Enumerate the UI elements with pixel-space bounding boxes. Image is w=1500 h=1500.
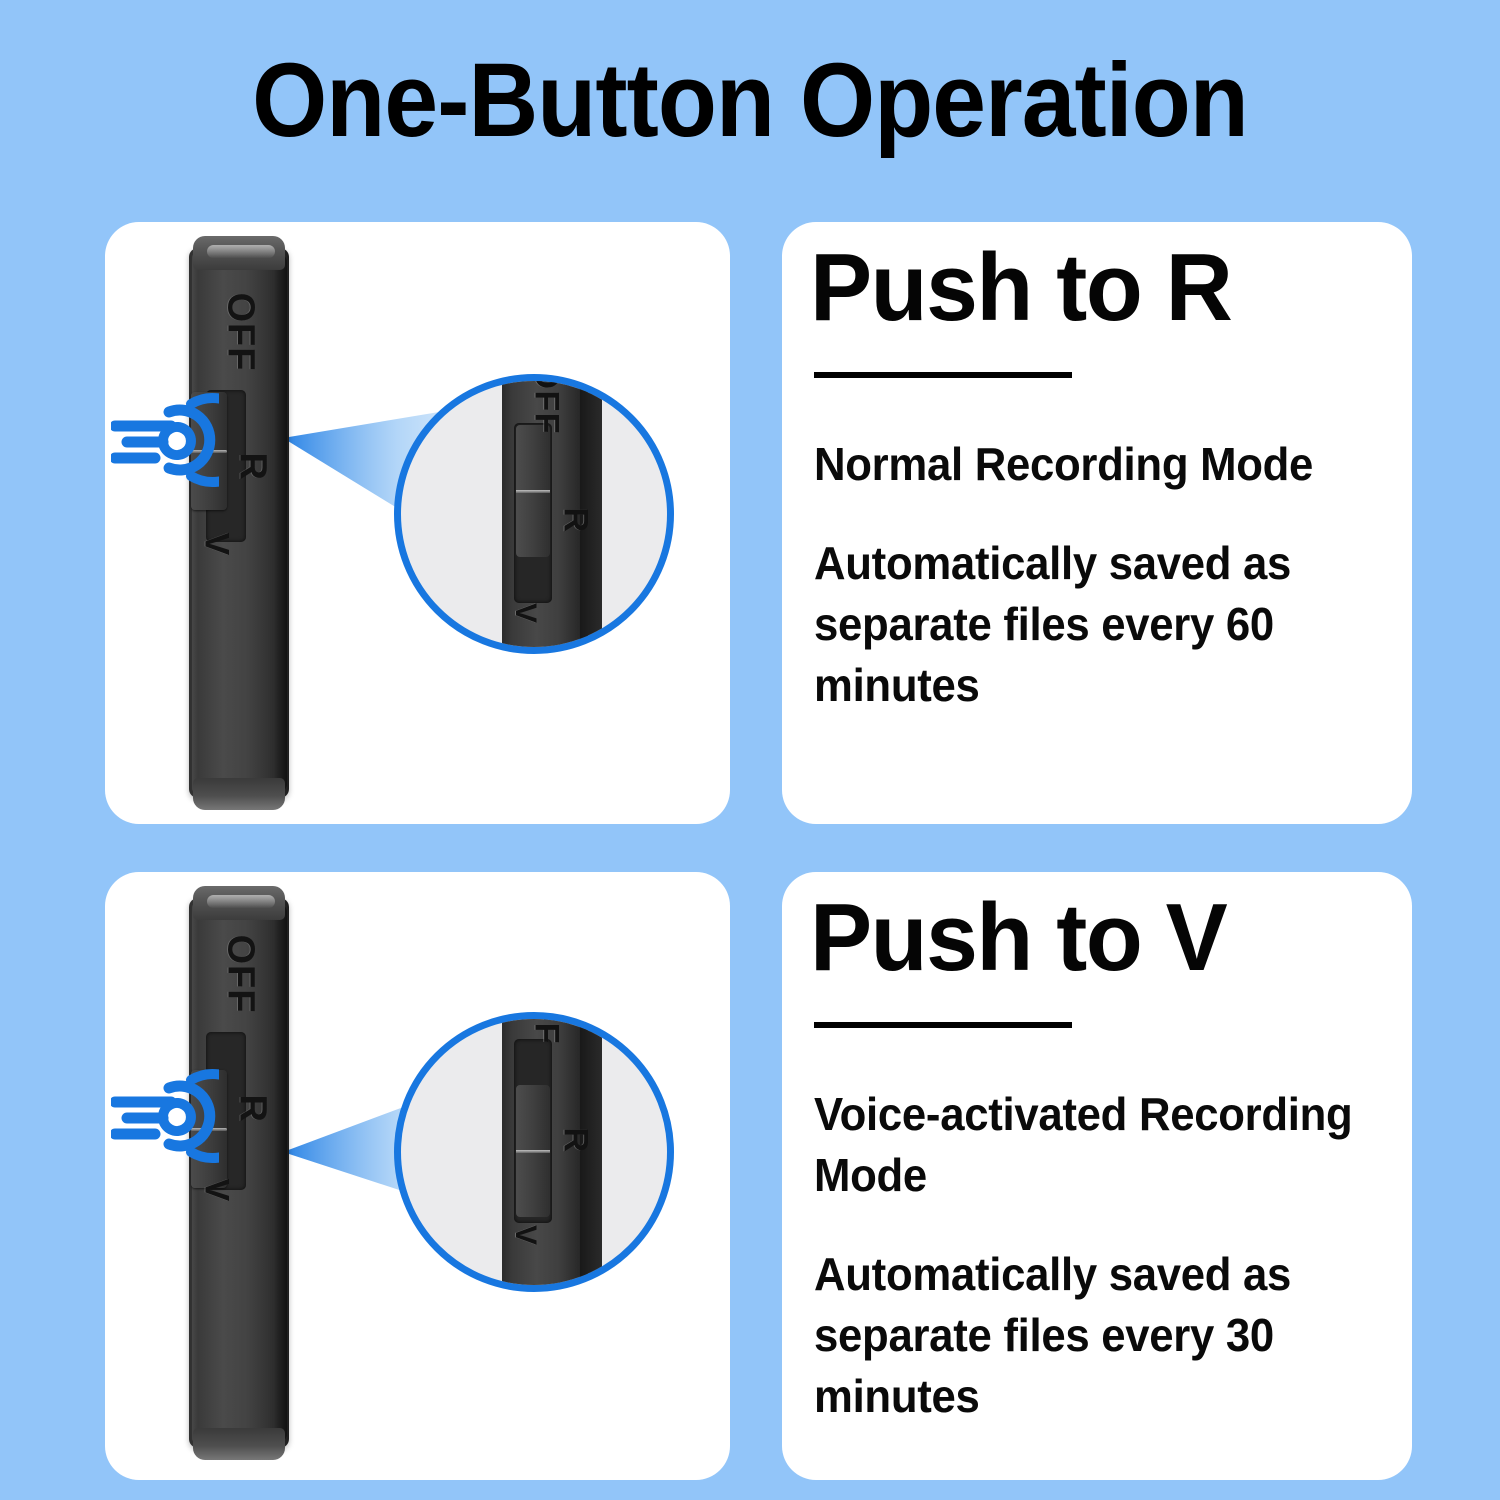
- panel-divider-v: [814, 1022, 1072, 1028]
- device-bottom-cap: [193, 1428, 285, 1460]
- device-bottom-cap: [193, 778, 285, 810]
- magnifier-label-off: OFF: [527, 1012, 566, 1037]
- panel-heading-v: Push to V: [810, 884, 1371, 992]
- magnifier-label-r: R: [556, 1128, 595, 1162]
- push-gesture-icon: [111, 392, 219, 488]
- magnifier-label-v: V: [508, 603, 542, 637]
- device-label-r: R: [231, 453, 274, 487]
- device-top-cap: [193, 236, 285, 270]
- device-illustration-r: OFF R V OFF R V: [105, 222, 730, 824]
- device-edge-shadow: [274, 254, 287, 792]
- device-label-v: V: [197, 1179, 236, 1213]
- device-label-v: V: [197, 533, 236, 567]
- device-edge-shadow: [274, 904, 287, 1442]
- panel-body-line-r-1: Normal Recording Mode: [814, 434, 1359, 495]
- panel-heading-r: Push to R: [810, 234, 1371, 342]
- device-illustration-v: OFF R V OFF R V: [105, 872, 730, 1480]
- magnifier-label-off: OFF: [527, 374, 566, 427]
- magnifier-circle-r: OFF R V: [394, 374, 674, 654]
- magnifier-label-r: R: [556, 508, 595, 542]
- panel-body-line-r-2: Automatically saved as: [814, 533, 1359, 594]
- panel-body-line-r-4: minutes: [814, 655, 1359, 716]
- page-title: One-Button Operation: [60, 46, 1440, 156]
- voice-recorder-device-v: OFF R V: [189, 880, 289, 1464]
- panel-divider-r: [814, 372, 1072, 378]
- device-top-gloss: [207, 245, 275, 258]
- device-highlight: [192, 254, 198, 792]
- text-card-push-to-r: Push to R Normal Recording Mode Automati…: [782, 222, 1412, 824]
- panel-body-line-v-5: minutes: [814, 1366, 1359, 1427]
- panel-body-line-v-1: Voice-activated Recording: [814, 1084, 1359, 1145]
- device-top-gloss: [207, 895, 275, 908]
- magnifier-circle-v: OFF R V: [394, 1012, 674, 1292]
- push-gesture-icon: [111, 1068, 219, 1164]
- panel-body-line-v-3: Automatically saved as: [814, 1244, 1359, 1305]
- device-card-push-to-r: OFF R V OFF R V: [105, 222, 730, 824]
- panel-body-line-v-4: separate files every 30: [814, 1305, 1359, 1366]
- voice-recorder-device-r: OFF R V: [189, 230, 289, 814]
- text-card-push-to-v: Push to V Voice-activated Recording Mode…: [782, 872, 1412, 1480]
- device-card-push-to-v: OFF R V OFF R V: [105, 872, 730, 1480]
- magnifier-label-v: V: [508, 1225, 542, 1259]
- device-top-cap: [193, 886, 285, 920]
- device-label-r: R: [231, 1095, 274, 1129]
- panel-body-line-r-3: separate files every 60: [814, 594, 1359, 655]
- device-label-off: OFF: [219, 935, 262, 1009]
- panel-body-line-v-2: Mode: [814, 1145, 1359, 1206]
- device-label-off: OFF: [219, 293, 262, 367]
